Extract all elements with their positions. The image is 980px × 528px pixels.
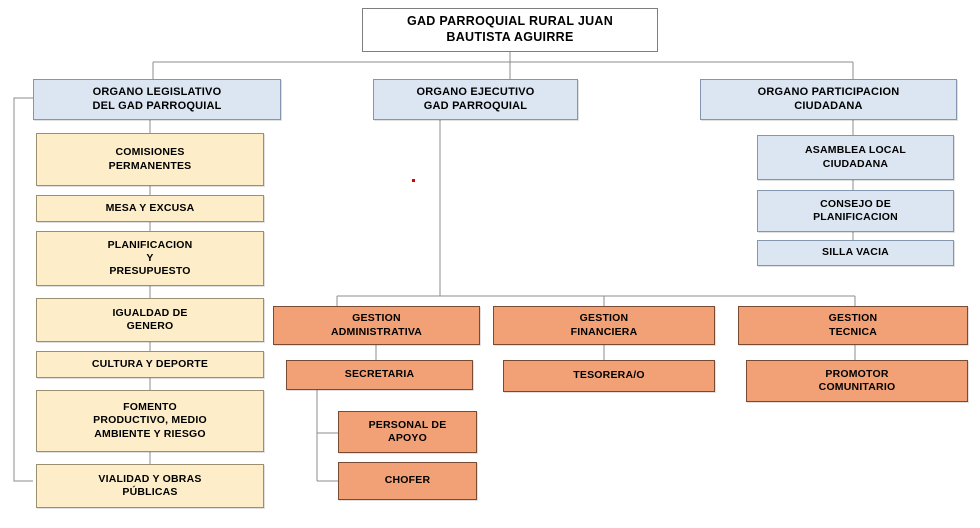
silla-vacia-label: SILLA VACIA	[822, 246, 889, 258]
fomento-line-2: PRODUCTIVO, MEDIO	[93, 414, 207, 426]
node-chofer[interactable]: CHOFER	[338, 462, 477, 500]
planificacion-line-3: PRESUPUESTO	[109, 265, 190, 277]
organo-ejecutivo-line-2: GAD PARROQUIAL	[424, 100, 527, 112]
organo-legislativo-line-2: DEL GAD PARROQUIAL	[92, 100, 221, 112]
node-asamblea-local-ciudadana[interactable]: ASAMBLEA LOCAL CIUDADANA	[757, 135, 954, 180]
red-dot-artifact	[412, 179, 415, 182]
root-title-line-1: GAD PARROQUIAL RURAL JUAN	[407, 14, 613, 28]
consejo-line-2: PLANIFICACION	[813, 211, 898, 223]
organo-legislativo-line-1: ORGANO LEGISLATIVO	[93, 86, 222, 98]
gestion-financiera-line-2: FINANCIERA	[571, 326, 638, 338]
gestion-tecnica-line-2: TECNICA	[829, 326, 877, 338]
comisiones-permanentes-line-1: COMISIONES	[115, 146, 184, 158]
root-node-gad-parroquial[interactable]: GAD PARROQUIAL RURAL JUAN BAUTISTA AGUIR…	[362, 8, 658, 52]
secretaria-label: SECRETARIA	[345, 368, 414, 380]
vialidad-line-2: PÚBLICAS	[122, 486, 177, 498]
node-mesa-y-excusa[interactable]: MESA Y EXCUSA	[36, 195, 264, 222]
node-personal-de-apoyo[interactable]: PERSONAL DE APOYO	[338, 411, 477, 453]
organo-ejecutivo-line-1: ORGANO EJECUTIVO	[416, 86, 534, 98]
node-planificacion-y-presupuesto[interactable]: PLANIFICACION Y PRESUPUESTO	[36, 231, 264, 286]
personal-apoyo-line-1: PERSONAL DE	[369, 419, 447, 431]
consejo-line-1: CONSEJO DE	[820, 198, 891, 210]
node-organo-ejecutivo[interactable]: ORGANO EJECUTIVO GAD PARROQUIAL	[373, 79, 578, 120]
node-comisiones-permanentes[interactable]: COMISIONES PERMANENTES	[36, 133, 264, 186]
node-cultura-y-deporte[interactable]: CULTURA Y DEPORTE	[36, 351, 264, 378]
promotor-line-1: PROMOTOR	[825, 368, 888, 380]
gestion-tecnica-line-1: GESTION	[829, 312, 878, 324]
vialidad-line-1: VIALIDAD Y OBRAS	[98, 473, 201, 485]
igualdad-genero-line-1: IGUALDAD DE	[112, 307, 187, 319]
igualdad-genero-line-2: GENERO	[127, 320, 174, 332]
node-gestion-administrativa[interactable]: GESTION ADMINISTRATIVA	[273, 306, 480, 345]
planificacion-line-2: Y	[146, 252, 153, 264]
root-title-line-2: BAUTISTA AGUIRRE	[446, 30, 573, 44]
mesa-y-excusa-label: MESA Y EXCUSA	[106, 202, 195, 214]
planificacion-line-1: PLANIFICACION	[108, 239, 193, 251]
gestion-financiera-line-1: GESTION	[580, 312, 629, 324]
tesorera-label: TESORERA/O	[573, 369, 644, 381]
node-organo-legislativo[interactable]: ORGANO LEGISLATIVO DEL GAD PARROQUIAL	[33, 79, 281, 120]
node-promotor-comunitario[interactable]: PROMOTOR COMUNITARIO	[746, 360, 968, 402]
personal-apoyo-line-2: APOYO	[388, 432, 427, 444]
node-organo-participacion-ciudadana[interactable]: ORGANO PARTICIPACION CIUDADANA	[700, 79, 957, 120]
node-silla-vacia[interactable]: SILLA VACIA	[757, 240, 954, 266]
organo-participacion-line-1: ORGANO PARTICIPACION	[758, 86, 900, 98]
node-igualdad-de-genero[interactable]: IGUALDAD DE GENERO	[36, 298, 264, 342]
organo-participacion-line-2: CIUDADANA	[794, 100, 862, 112]
asamblea-line-1: ASAMBLEA LOCAL	[805, 144, 906, 156]
comisiones-permanentes-line-2: PERMANENTES	[109, 160, 192, 172]
org-chart: GAD PARROQUIAL RURAL JUAN BAUTISTA AGUIR…	[0, 0, 980, 528]
node-consejo-de-planificacion[interactable]: CONSEJO DE PLANIFICACION	[757, 190, 954, 232]
chofer-label: CHOFER	[385, 474, 431, 486]
fomento-line-1: FOMENTO	[123, 401, 177, 413]
node-secretaria[interactable]: SECRETARIA	[286, 360, 473, 390]
fomento-line-3: AMBIENTE Y RIESGO	[94, 428, 206, 440]
node-tesorera[interactable]: TESORERA/O	[503, 360, 715, 392]
cultura-deporte-label: CULTURA Y DEPORTE	[92, 358, 208, 370]
gestion-administrativa-line-1: GESTION	[352, 312, 401, 324]
gestion-administrativa-line-2: ADMINISTRATIVA	[331, 326, 422, 338]
promotor-line-2: COMUNITARIO	[819, 381, 896, 393]
node-fomento-productivo[interactable]: FOMENTO PRODUCTIVO, MEDIO AMBIENTE Y RIE…	[36, 390, 264, 452]
asamblea-line-2: CIUDADANA	[823, 158, 888, 170]
node-gestion-financiera[interactable]: GESTION FINANCIERA	[493, 306, 715, 345]
node-gestion-tecnica[interactable]: GESTION TECNICA	[738, 306, 968, 345]
node-vialidad-y-obras-publicas[interactable]: VIALIDAD Y OBRAS PÚBLICAS	[36, 464, 264, 508]
